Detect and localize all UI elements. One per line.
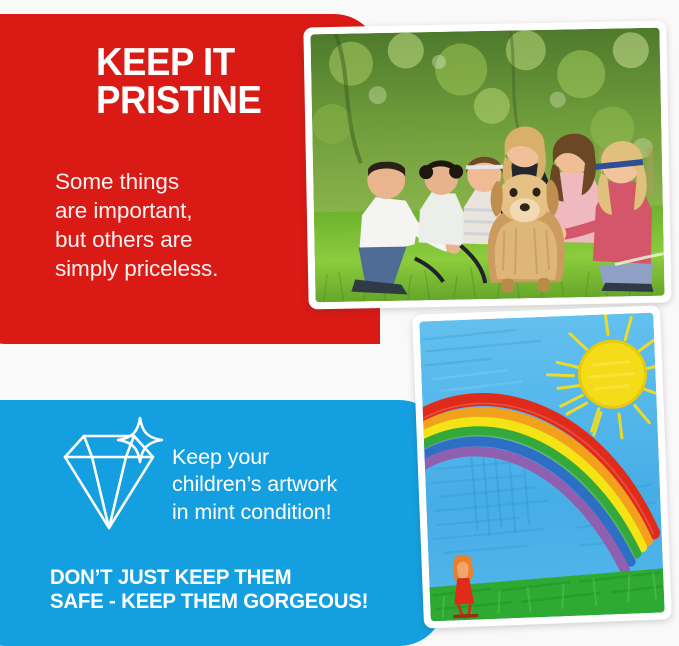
family-photo <box>310 28 664 303</box>
red-body-line-4: simply priceless. <box>55 255 325 284</box>
blue-tagline-line-1: DON’T JUST KEEP THEM <box>50 566 419 590</box>
headline-line-1: KEEP IT <box>96 41 235 84</box>
red-body-line-1: Some things <box>55 168 325 197</box>
blue-body-line-3: in mint condition! <box>172 499 412 526</box>
blue-body-text: Keep your children’s artwork in mint con… <box>172 444 412 526</box>
red-body-text: Some things are important, but others ar… <box>55 168 325 284</box>
blue-tagline: DON’T JUST KEEP THEM SAFE - KEEP THEM GO… <box>50 566 419 615</box>
blue-body-line-1: Keep your <box>172 444 412 471</box>
blue-tagline-line-2: SAFE - KEEP THEM GORGEOUS! <box>50 590 419 614</box>
promo-banner: KEEP IT PRISTINE Some things are importa… <box>0 0 679 646</box>
red-body-line-3: but others are <box>55 226 325 255</box>
blue-body-line-2: children’s artwork <box>172 471 412 498</box>
artwork-photo <box>419 313 664 622</box>
artwork-photo-frame <box>412 305 672 628</box>
diamond-sparkle-icon <box>48 412 170 544</box>
red-body-line-2: are important, <box>55 197 325 226</box>
family-photo-frame <box>303 21 671 310</box>
